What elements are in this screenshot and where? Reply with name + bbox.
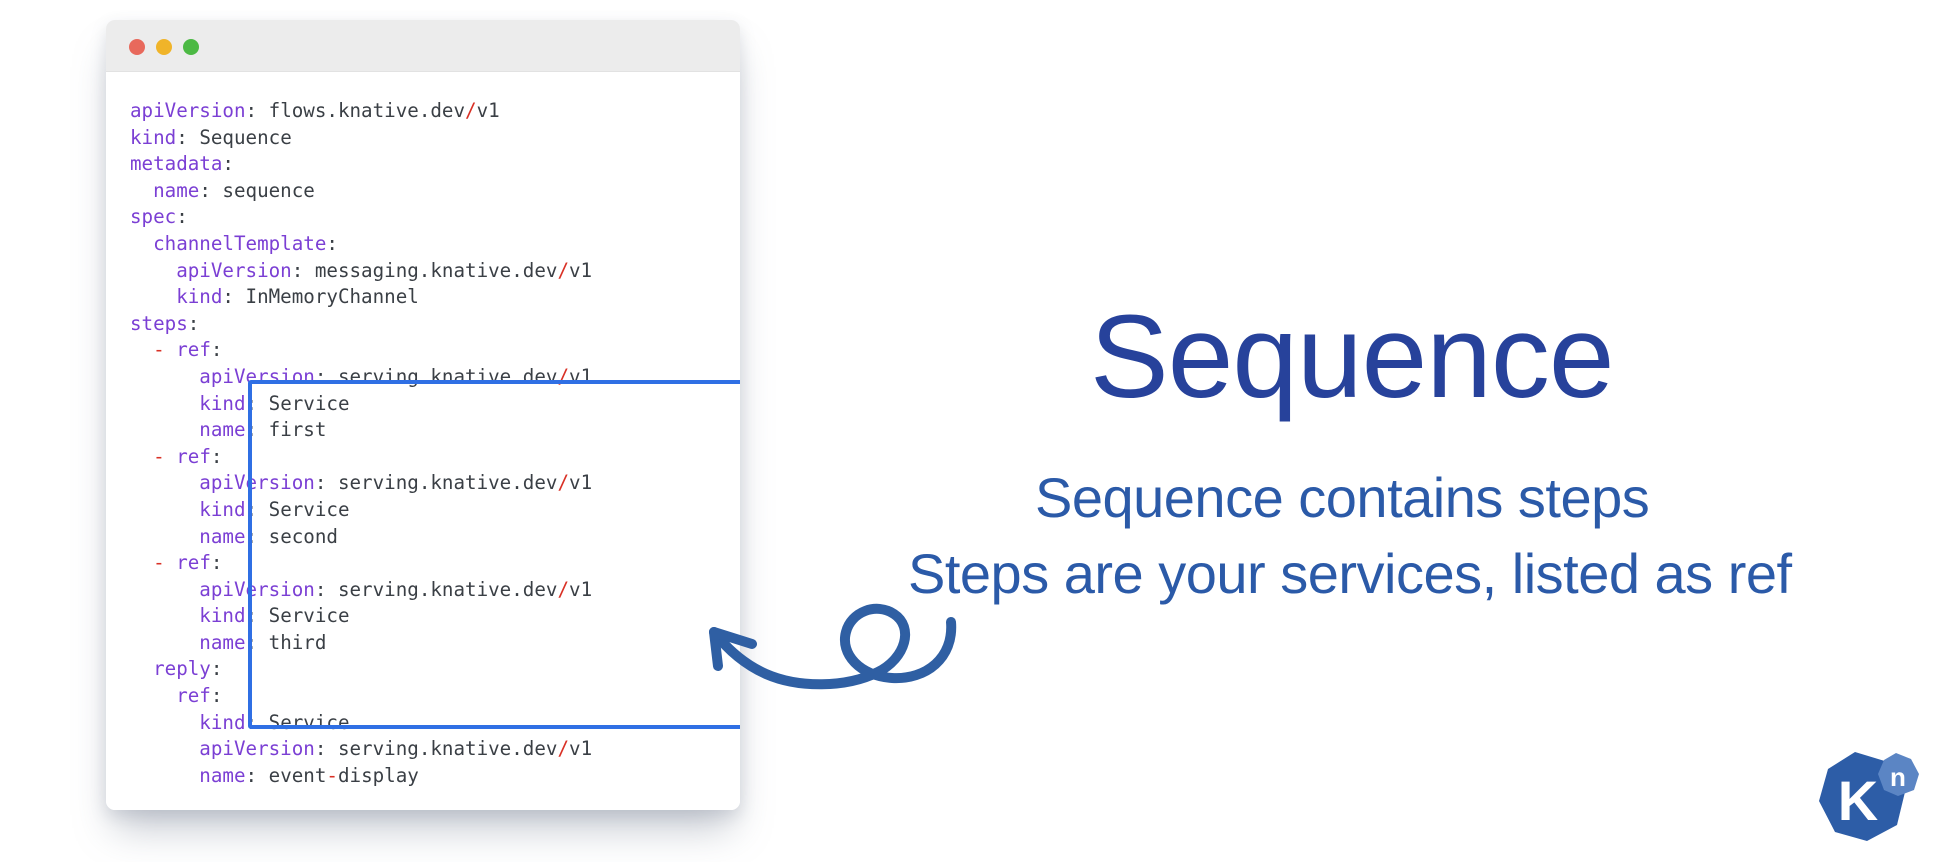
slide-canvas: apiVersion: flows.knative.dev/v1 kind: S… — [0, 0, 1960, 862]
code-line: kind: Sequence — [130, 126, 292, 149]
code-line: metadata: — [130, 152, 234, 175]
close-button[interactable] — [129, 39, 145, 55]
code-line: name: first — [130, 418, 326, 441]
code-line: channelTemplate: — [130, 232, 338, 255]
window-title-bar — [106, 20, 740, 72]
logo-secondary-letter: n — [1890, 762, 1906, 792]
code-line: - ref: — [130, 551, 222, 574]
code-line: name: second — [130, 525, 338, 548]
code-editor-body[interactable]: apiVersion: flows.knative.dev/v1 kind: S… — [106, 72, 740, 810]
code-line: spec: — [130, 205, 188, 228]
code-line: - ref: — [130, 338, 222, 361]
code-line: steps: — [130, 312, 199, 335]
subtitle-line-2: Steps are your services, listed as ref — [908, 541, 1773, 606]
yaml-code-block[interactable]: apiVersion: flows.knative.dev/v1 kind: S… — [106, 98, 740, 789]
code-line: name: sequence — [130, 179, 315, 202]
page-title: Sequence — [1090, 298, 1590, 416]
code-line: apiVersion: serving.knative.dev/v1 — [130, 578, 592, 601]
logo-primary-letter: K — [1838, 769, 1878, 832]
code-line: ref: — [130, 684, 222, 707]
code-line: reply: — [130, 657, 222, 680]
code-line: apiVersion: serving.knative.dev/v1 — [130, 737, 592, 760]
maximize-button[interactable] — [183, 39, 199, 55]
subtitle-line-1: Sequence contains steps — [1035, 465, 1645, 530]
code-line: apiVersion: serving.knative.dev/v1 — [130, 365, 592, 388]
code-line: kind: Service — [130, 711, 350, 734]
code-line: name: third — [130, 631, 326, 654]
knative-logo: K n — [1812, 748, 1922, 848]
code-line: kind: InMemoryChannel — [130, 285, 419, 308]
code-line: kind: Service — [130, 604, 350, 627]
minimize-button[interactable] — [156, 39, 172, 55]
code-line: - ref: — [130, 445, 222, 468]
code-line: name: event-display — [130, 764, 419, 787]
code-line: kind: Service — [130, 498, 350, 521]
code-window: apiVersion: flows.knative.dev/v1 kind: S… — [106, 20, 740, 810]
code-line: kind: Service — [130, 392, 350, 415]
code-line: apiVersion: flows.knative.dev/v1 — [130, 99, 500, 122]
code-line: apiVersion: serving.knative.dev/v1 — [130, 471, 592, 494]
code-line: apiVersion: messaging.knative.dev/v1 — [130, 259, 592, 282]
